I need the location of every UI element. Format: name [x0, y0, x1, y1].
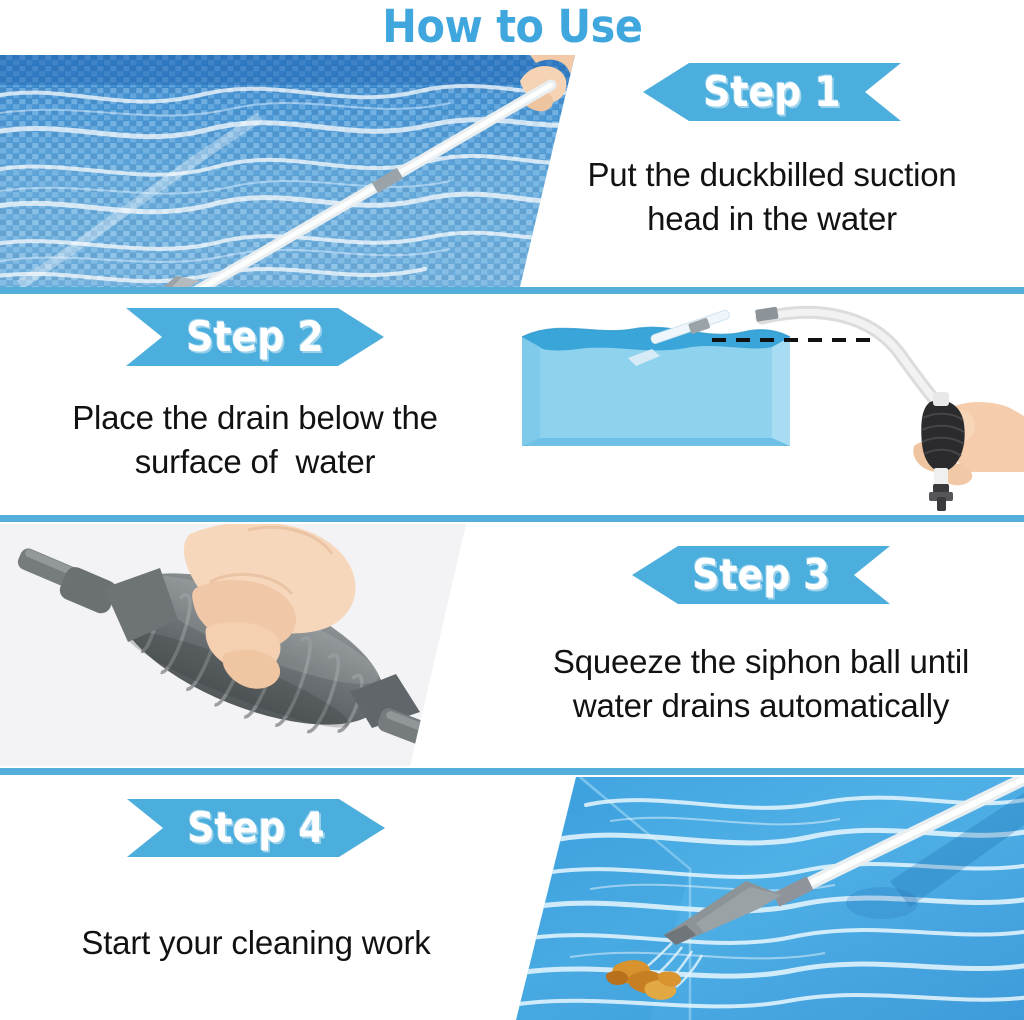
- step-1-media: [0, 55, 575, 287]
- step-2-banner: Step 2: [126, 306, 384, 368]
- step-4-banner: Step 4: [127, 797, 385, 859]
- step-4-text-block: Step 4 Start your cleaning work: [0, 777, 512, 1020]
- divider-3: [0, 768, 1024, 775]
- step-4-media: [490, 777, 1024, 1020]
- step-3-text-block: Step 3 Squeeze the siphon ball until wat…: [498, 524, 1024, 766]
- step-3-row: Step 3 Squeeze the siphon ball until wat…: [0, 524, 1024, 766]
- pool-mosaic-photo: [0, 55, 575, 287]
- tank-siphon-diagram: [500, 296, 1024, 512]
- step-3-caption: Squeeze the siphon ball until water drai…: [501, 640, 1021, 728]
- banner-shape-left: [632, 544, 890, 606]
- divider-2: [0, 515, 1024, 522]
- step-4-row: Step 4 Start your cleaning work: [0, 777, 1024, 1020]
- page-header: How to Use: [0, 0, 1024, 52]
- banner-shape-left: [643, 61, 901, 123]
- step-2-text-block: Step 2 Place the drain below the surface…: [0, 296, 510, 512]
- step-1-row: Step 1 Put the duckbilled suction head i…: [0, 55, 1024, 287]
- hand-squeezing-siphon-bulb-photo: [0, 524, 500, 766]
- step-1-text-block: Step 1 Put the duckbilled suction head i…: [520, 55, 1024, 287]
- step-3-media: [0, 524, 500, 766]
- infographic-page: How to Use: [0, 0, 1024, 1020]
- step-4-caption: Start your cleaning work: [6, 921, 506, 965]
- step-2-media: [500, 296, 1024, 512]
- step-2-caption: Place the drain below the surface of wat…: [10, 396, 500, 484]
- divider-1: [0, 287, 1024, 294]
- page-title: How to Use: [382, 4, 642, 49]
- step-2-row: Step 2 Place the drain below the surface…: [0, 296, 1024, 512]
- step-3-banner: Step 3: [632, 544, 890, 606]
- pool-vacuum-debris-photo: [490, 777, 1024, 1020]
- step-1-banner: Step 1: [643, 61, 901, 123]
- step-1-caption: Put the duckbilled suction head in the w…: [537, 153, 1007, 241]
- banner-shape-right: [126, 306, 384, 368]
- banner-shape-right: [127, 797, 385, 859]
